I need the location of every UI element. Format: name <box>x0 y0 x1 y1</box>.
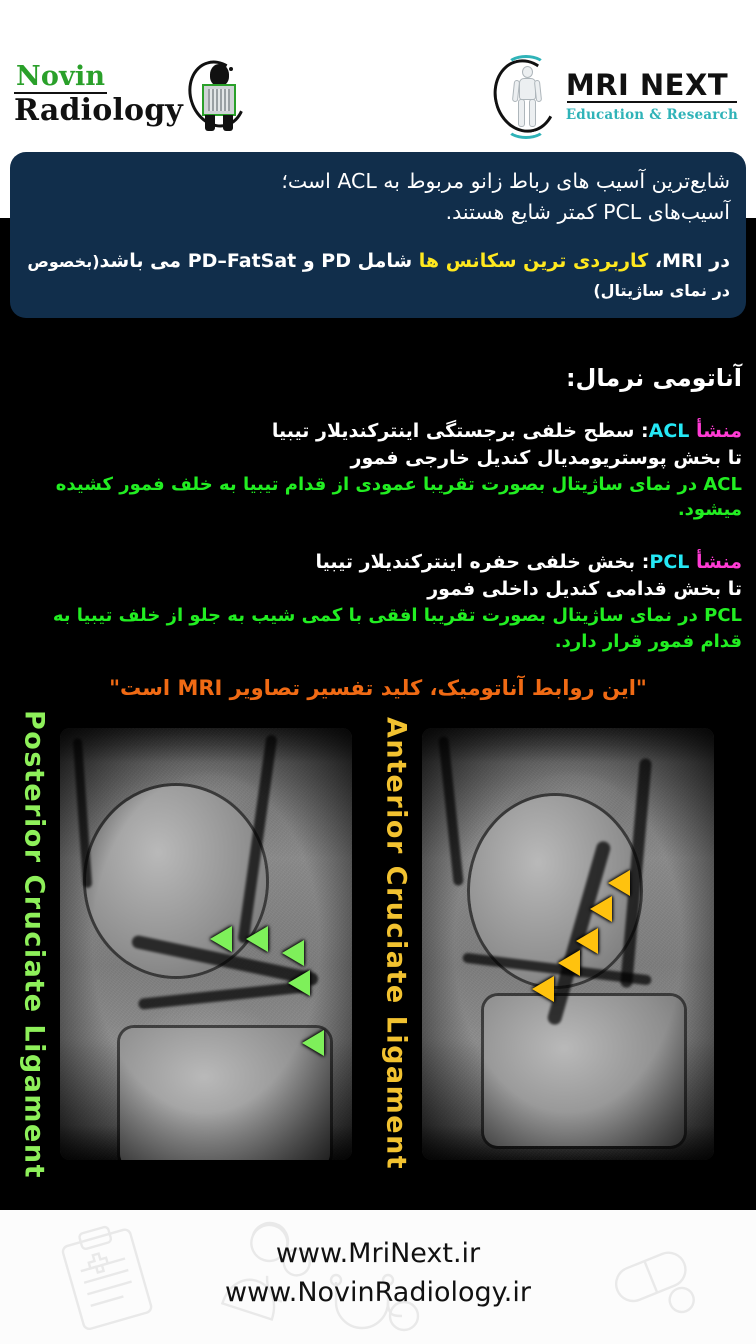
mri-panels: Anterior Cruciate Ligament Posterior Cru… <box>42 728 714 1160</box>
acl-abbr: ACL <box>649 420 690 442</box>
footer-url-novinradiology[interactable]: www.NovinRadiology.ir <box>0 1273 756 1312</box>
banner-line-2: آسیب‌های PCL کمتر شایع هستند. <box>26 197 730 228</box>
banner-line-1: شایع‌ترین آسیب های رباط زانو مربوط به AC… <box>26 166 730 197</box>
pcl-panel[interactable]: Posterior Cruciate Ligament <box>8 728 352 1160</box>
pcl-insertion-line: تا بخش قدامی کندیل داخلی فمور <box>14 576 742 603</box>
key-takeaway-quote: "این روابط آناتومیک، کلید تفسیر تصاویر M… <box>0 676 756 700</box>
page-footer: www.MriNext.ir www.NovinRadiology.ir <box>0 1210 756 1344</box>
pcl-origin-text: : بخش خلفی حفره اینترکندیلار تیبیا <box>315 551 649 573</box>
pcl-origin-line: منشأ PCL: بخش خلفی حفره اینترکندیلار تیب… <box>14 549 742 576</box>
intro-banner: شایع‌ترین آسیب های رباط زانو مربوط به AC… <box>10 152 746 318</box>
banner-line3-prefix: در MRI، <box>648 250 730 272</box>
novin-radiology-logo[interactable]: Novin Radiology <box>14 58 251 132</box>
novin-logo-word1: Novin <box>14 63 107 94</box>
mrinext-logo[interactable]: MRI NEXT Education & Research <box>490 56 738 138</box>
pcl-arrow-3 <box>282 940 304 966</box>
pcl-abbr: PCL <box>649 551 689 573</box>
acl-origin-text: : سطح خلفی برجستگی اینترکندیلار تیبیا <box>272 420 649 442</box>
acl-anatomy-block: منشأ ACL: سطح خلفی برجستگی اینترکندیلار … <box>14 418 742 523</box>
human-body-circle-icon <box>490 56 564 138</box>
footer-urls: www.MriNext.ir www.NovinRadiology.ir <box>0 1234 756 1312</box>
pcl-arrow-1 <box>210 926 232 952</box>
banner-sequence-text: در MRI، کاربردی ترین سکانس ها شامل PD و … <box>26 247 730 308</box>
pcl-label-text: Posterior Cruciate Ligament <box>19 710 50 1179</box>
pcl-orientation-note: PCL در نمای ساژیتال بصورت تقریبا افقی با… <box>14 603 742 654</box>
acl-origin-label: منشأ <box>696 420 742 442</box>
acl-arrow-5 <box>532 976 554 1002</box>
normal-anatomy-section: آناتومی نرمال: منشأ ACL: سطح خلفی برجستگ… <box>14 364 742 680</box>
acl-orientation-note: ACL در نمای ساژیتال بصورت تقریبا عمودی ا… <box>14 472 742 523</box>
acl-arrow-2 <box>590 896 612 922</box>
radiology-figure-icon <box>189 58 251 132</box>
pcl-anatomy-block: منشأ PCL: بخش خلفی حفره اینترکندیلار تیب… <box>14 549 742 654</box>
pcl-arrow-4 <box>288 970 310 996</box>
pcl-mri-image[interactable] <box>60 728 352 1160</box>
pcl-origin-label: منشأ <box>696 551 742 573</box>
footer-url-mrinext[interactable]: www.MriNext.ir <box>0 1234 756 1273</box>
acl-arrow-4 <box>558 950 580 976</box>
banner-line3-highlight: کاربردی ترین سکانس ها <box>419 250 648 272</box>
acl-mri-image[interactable] <box>422 728 714 1160</box>
acl-insertion-line: تا بخش پوستریومدیال کندیل خارجی فمور <box>14 445 742 472</box>
acl-panel[interactable]: Anterior Cruciate Ligament <box>370 728 714 1160</box>
banner-top-text: شایع‌ترین آسیب های رباط زانو مربوط به AC… <box>26 166 730 228</box>
pcl-panel-label: Posterior Cruciate Ligament <box>8 728 60 1160</box>
novin-logo-word2: Radiology <box>14 95 183 127</box>
banner-line3-suffix: شامل PD و PD–FatSat می باشد <box>100 250 419 272</box>
acl-origin-line: منشأ ACL: سطح خلفی برجستگی اینترکندیلار … <box>14 418 742 445</box>
pcl-arrow-5 <box>302 1030 324 1056</box>
pcl-arrow-2 <box>246 926 268 952</box>
mrinext-subtitle: Education & Research <box>566 107 738 123</box>
acl-panel-label: Anterior Cruciate Ligament <box>370 728 422 1160</box>
anatomy-heading: آناتومی نرمال: <box>14 364 742 392</box>
acl-label-text: Anterior Cruciate Ligament <box>381 717 412 1170</box>
mrinext-title: MRI NEXT <box>566 71 738 100</box>
acl-arrow-1 <box>608 870 630 896</box>
